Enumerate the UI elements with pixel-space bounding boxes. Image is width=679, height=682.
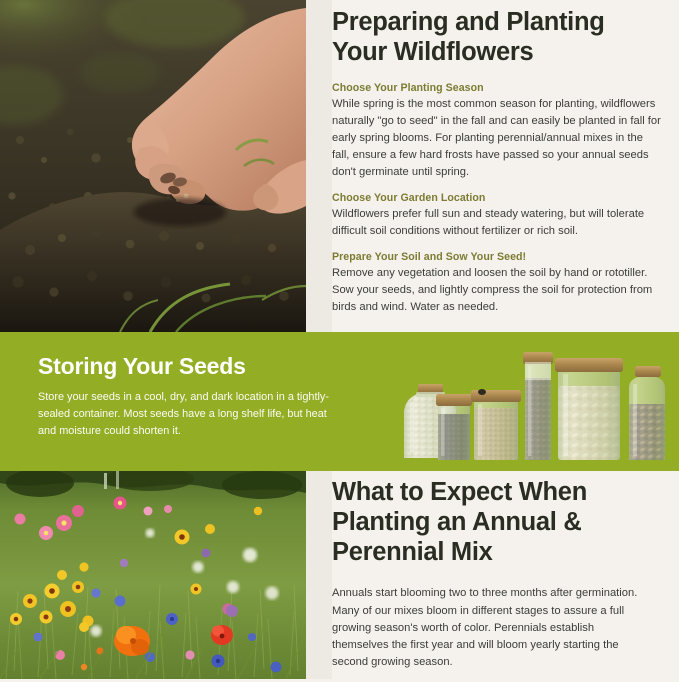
photo-seam-bottom [306, 471, 332, 679]
planting-subheading-1: Choose Your Planting Season [332, 82, 662, 94]
planting-body-2: Wildflowers prefer full sun and steady w… [332, 206, 662, 240]
seed-jars-photo [392, 342, 671, 468]
expect-body: Annuals start blooming two to three mont… [332, 585, 650, 670]
planting-subheading-2: Choose Your Garden Location [332, 192, 662, 204]
planting-text-column: Preparing and Planting Your Wildflowers … [332, 8, 662, 327]
storing-text-column: Storing Your Seeds Store your seeds in a… [38, 354, 330, 440]
planting-subheading-3: Prepare Your Soil and Sow Your Seed! [332, 251, 662, 263]
planting-heading: Preparing and Planting Your Wildflowers [332, 8, 662, 68]
infographic-page: Preparing and Planting Your Wildflowers … [0, 0, 679, 679]
hands-sowing-seeds-photo [0, 0, 306, 332]
expect-text-column: What to Expect When Planting an Annual &… [332, 478, 650, 682]
photo-seam-top [306, 0, 332, 332]
planting-body-1: While spring is the most common season f… [332, 96, 662, 181]
planting-body-3: Remove any vegetation and loosen the soi… [332, 265, 662, 316]
wildflower-meadow-photo [0, 471, 306, 679]
storing-heading: Storing Your Seeds [38, 354, 330, 379]
expect-heading: What to Expect When Planting an Annual &… [332, 478, 650, 567]
storing-body: Store your seeds in a cool, dry, and dar… [38, 389, 330, 440]
